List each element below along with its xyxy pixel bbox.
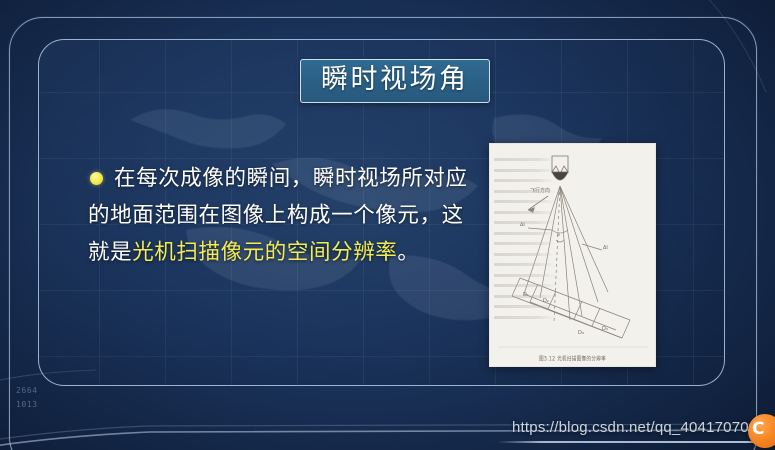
figure-label-dd: D₉ (602, 326, 608, 332)
page-title: 瞬时视场角 (321, 66, 469, 93)
slide-title-badge: 瞬时视场角 (300, 59, 490, 103)
bullet-dot-icon (90, 172, 103, 185)
figure-label-delta-right: Δl (603, 245, 608, 251)
slide-body: 在每次成像的瞬间，瞬时视场所对应的地面范围在图像上构成一个像元，这就是光机扫描像… (88, 160, 480, 271)
body-text-highlight: 光机扫描像元的空间分辨率 (132, 240, 397, 265)
figure-caption: 图3.12 光机扫描图像的分辨率 (490, 355, 655, 363)
watermark-url[interactable]: https://blog.csdn.net/qq_40417070 (512, 419, 749, 436)
body-text-part2: 。 (397, 240, 419, 265)
body-paragraph: 在每次成像的瞬间，瞬时视场所对应的地面范围在图像上构成一个像元，这就是光机扫描像… (88, 160, 480, 271)
figure-ghost-text (494, 158, 556, 346)
frame-counter-bottom: 1013 (16, 400, 38, 409)
figure-label-dc: D₈ (578, 330, 584, 336)
csdn-badge-letter: C (752, 419, 764, 439)
scanner-resolution-figure: 飞行方向 Δl Δl β D₁ D₂ D₈ D₉ 图3.12 光机扫描图像的分辨… (489, 143, 656, 367)
frame-counter-top: 2664 (16, 386, 38, 395)
presentation-slide: 瞬时视场角 在每次成像的瞬间，瞬时视场所对应的地面范围在图像上构成一个像元，这就… (0, 0, 775, 450)
watermark-underline (497, 441, 775, 443)
figure-label-beta: β (557, 232, 560, 238)
